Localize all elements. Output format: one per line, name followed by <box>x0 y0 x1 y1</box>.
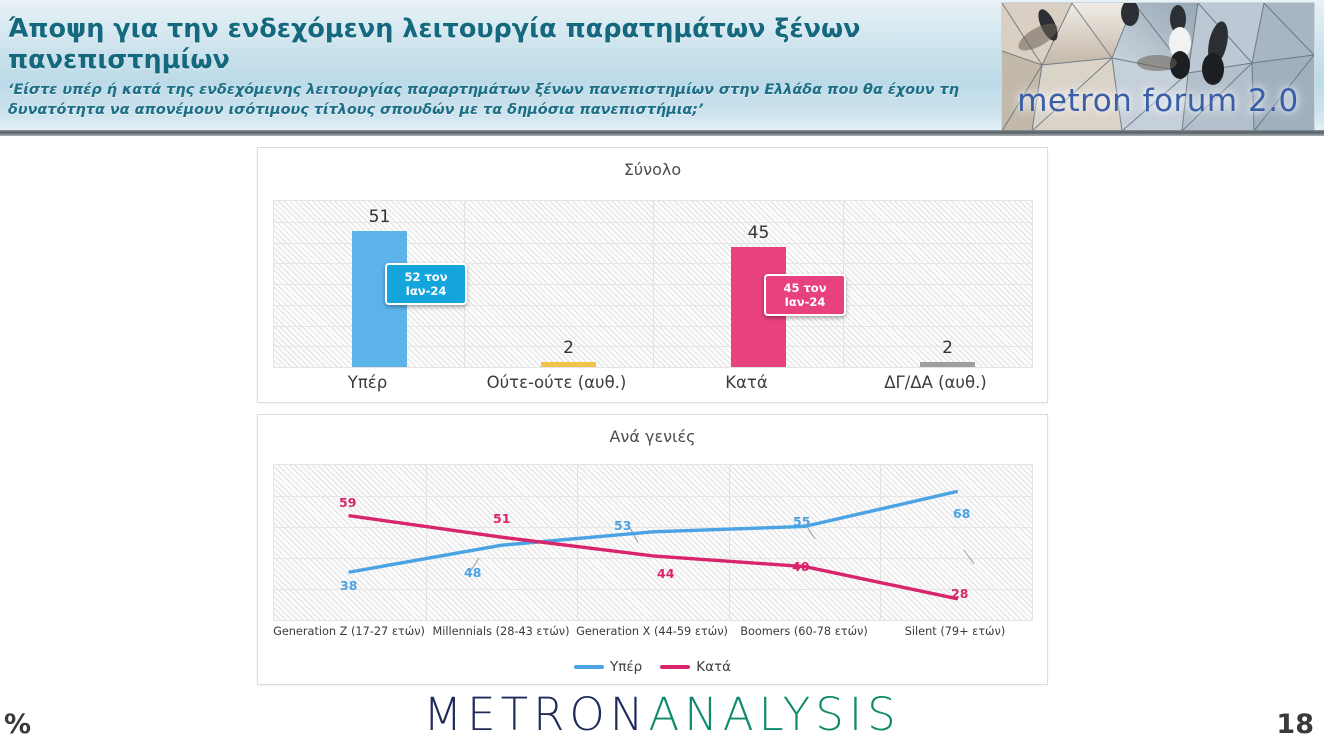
bar-category-label-oute-oute: Ούτε-ούτε (αυθ.) <box>462 373 651 392</box>
legend-swatch-yper <box>574 665 604 669</box>
gen-category-label-genz: Generation Z (17-27 ετών) <box>273 625 425 638</box>
total-chart-card: Σύνολο 51 2 45 2 52 τον Ιαν-24 45 τον Ια… <box>257 147 1048 403</box>
gen-category-label-genx: Generation X (44-59 ετών) <box>576 625 728 638</box>
total-chart-title: Σύνολο <box>258 160 1047 179</box>
generations-chart-card: Ανά γενιές 38 48 53 55 68 59 <box>257 414 1048 685</box>
point-label-yper-genx: 53 <box>614 518 631 533</box>
point-label-yper-millennials: 48 <box>464 565 481 580</box>
metron-forum-banner-image: metron forum 2.0 <box>1001 2 1315 132</box>
point-label-kata-genx: 44 <box>657 566 674 581</box>
legend-item-yper[interactable]: Υπέρ <box>574 659 642 675</box>
point-label-kata-millennials: 51 <box>493 511 510 526</box>
bar-dg-da <box>920 362 975 367</box>
bar-value-yper: 51 <box>352 207 407 227</box>
bar-category-label-yper: Υπέρ <box>273 373 462 392</box>
total-chart-plot-area: 51 2 45 2 52 τον Ιαν-24 45 τον Ιαν-24 <box>273 200 1033 368</box>
logo-analysis-text: ANALYSIS <box>648 688 900 741</box>
generations-chart-plot-area: 38 48 53 55 68 59 51 44 40 28 <box>273 464 1033 621</box>
bar-oute-oute <box>541 362 596 367</box>
bar-category-label-kata: Κατά <box>652 373 841 392</box>
gen-category-label-silent: Silent (79+ ετών) <box>879 625 1031 638</box>
point-label-kata-boomers: 40 <box>792 559 809 574</box>
gen-category-label-boomers: Boomers (60-78 ετών) <box>728 625 880 638</box>
point-label-yper-genz: 38 <box>340 578 357 593</box>
point-label-yper-silent: 68 <box>953 506 970 521</box>
legend-item-kata[interactable]: Κατά <box>660 659 731 675</box>
callout-yper-previous: 52 τον Ιαν-24 <box>385 263 467 305</box>
page-subtitle: ‘Είστε υπέρ ή κατά της ενδεχόμενης λειτο… <box>8 81 988 120</box>
bar-category-label-dg-da: ΔΓ/ΔΑ (αυθ.) <box>841 373 1030 392</box>
logo-metron-text: METRON <box>423 688 648 741</box>
legend-label-yper: Υπέρ <box>610 659 642 675</box>
point-label-kata-silent: 28 <box>951 586 968 601</box>
legend-label-kata: Κατά <box>696 659 731 675</box>
gen-category-label-millennials: Millennials (28-43 ετών) <box>425 625 577 638</box>
header-text-block: Άποψη για την ενδεχόμενη λειτουργία παρα… <box>8 14 988 120</box>
category-divider <box>653 201 654 367</box>
line-series-yper <box>350 492 956 572</box>
slide-header: Άποψη για την ενδεχόμενη λειτουργία παρα… <box>0 0 1324 136</box>
legend-swatch-kata <box>660 665 690 669</box>
bar-value-dg-da: 2 <box>920 338 975 358</box>
callout-kata-previous: 45 τον Ιαν-24 <box>764 274 846 316</box>
point-label-yper-boomers: 55 <box>793 514 810 529</box>
generations-chart-title: Ανά γενιές <box>258 427 1047 446</box>
page-title: Άποψη για την ενδεχόμενη λειτουργία παρα… <box>8 14 988 76</box>
bar-value-oute-oute: 2 <box>541 338 596 358</box>
metron-forum-wordmark: metron forum 2.0 <box>1002 83 1314 119</box>
point-label-kata-genz: 59 <box>339 495 356 510</box>
metron-analysis-logo: METRONANALYSIS <box>0 692 1324 737</box>
generations-series-svg <box>274 465 1032 620</box>
bar-value-kata: 45 <box>731 223 786 243</box>
generations-chart-legend: Υπέρ Κατά <box>258 659 1047 675</box>
